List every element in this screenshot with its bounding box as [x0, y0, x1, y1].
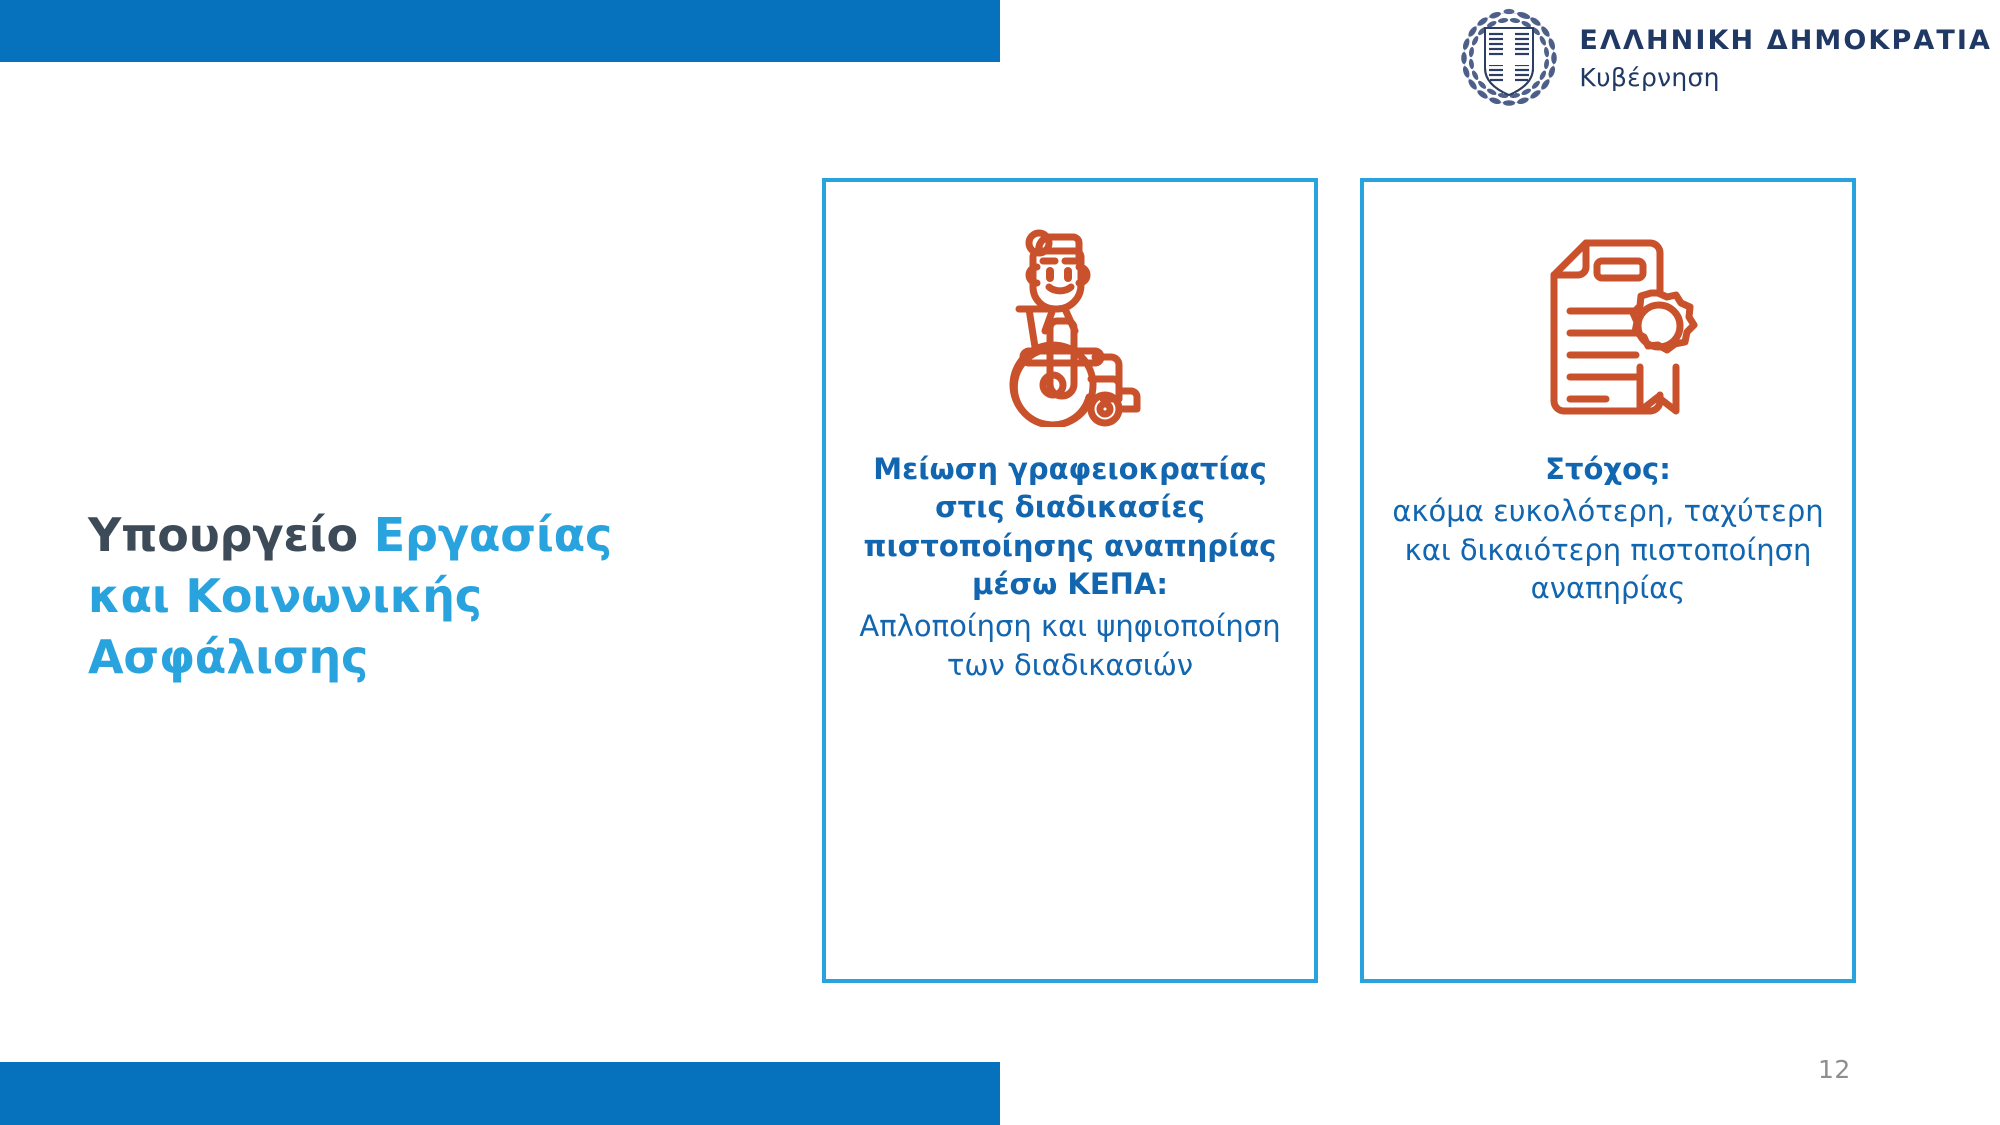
slide-canvas: ΕΛΛΗΝΙΚΗ ΔΗΜΟΚΡΑΤΙΑ Κυβέρνηση Υπουργείο …: [0, 0, 2000, 1125]
brand-text-block: ΕΛΛΗΝΙΚΗ ΔΗΜΟΚΡΑΤΙΑ Κυβέρνηση: [1579, 27, 1992, 90]
page-number: 12: [1818, 1055, 1851, 1084]
card-text-block: Μείωση γραφειοκρατίας στις διαδικασίες π…: [848, 450, 1292, 684]
card-title: Μείωση γραφειοκρατίας στις διαδικασίες π…: [848, 450, 1292, 603]
card-subtitle: ακόμα ευκολότερη, ταχύτερη και δικαιότερ…: [1386, 492, 1830, 608]
brand-subtitle: Κυβέρνηση: [1579, 65, 1992, 90]
headline-labour-word: Εργασίας: [374, 508, 612, 562]
bottom-blue-bar: [0, 1062, 1000, 1125]
brand-title: ΕΛΛΗΝΙΚΗ ΔΗΜΟΚΡΑΤΙΑ: [1579, 27, 1992, 54]
top-blue-bar: [0, 0, 1000, 62]
card-text-block: Στόχος: ακόμα ευκολότερη, ταχύτερη και δ…: [1386, 450, 1830, 608]
headline-ministry-word: Υπουργείο: [88, 508, 374, 562]
headline-second-line: και Κοινωνικής Ασφάλισης: [88, 569, 482, 684]
brand-header: ΕΛΛΗΝΙΚΗ ΔΗΜΟΚΡΑΤΙΑ Κυβέρνηση: [1457, 6, 1992, 110]
wheelchair-user-icon: [826, 222, 1314, 432]
greek-coat-of-arms-icon: [1457, 6, 1561, 110]
certificate-document-icon: [1364, 222, 1852, 432]
info-card-bureaucracy: Μείωση γραφειοκρατίας στις διαδικασίες π…: [822, 178, 1318, 983]
page-title: Υπουργείο Εργασίας και Κοινωνικής Ασφάλι…: [88, 505, 768, 689]
info-card-goal: Στόχος: ακόμα ευκολότερη, ταχύτερη και δ…: [1360, 178, 1856, 983]
card-title: Στόχος:: [1386, 450, 1830, 488]
card-subtitle: Απλοποίηση και ψηφιοποίηση των διαδικασι…: [848, 607, 1292, 684]
